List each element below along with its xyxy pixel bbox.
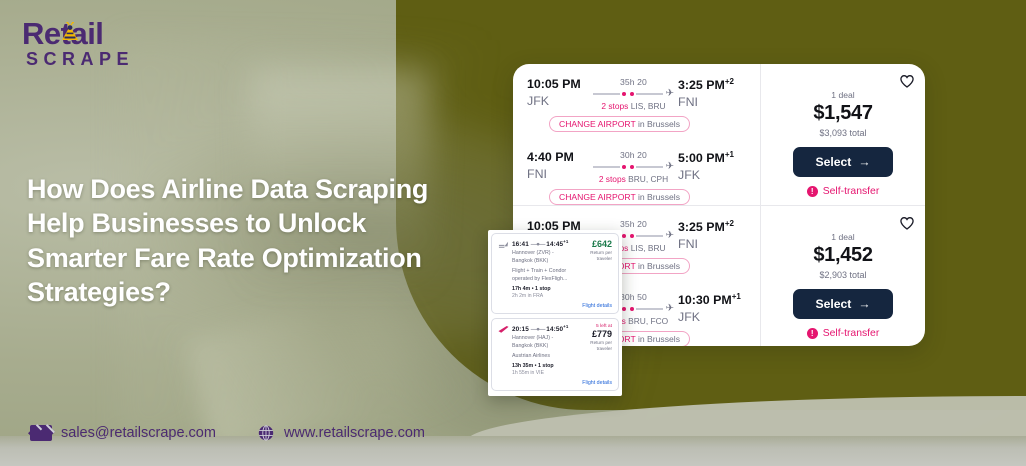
depart-airport: JFK	[527, 94, 589, 108]
globe-icon	[257, 424, 275, 442]
arrive-airport: FNI	[678, 95, 750, 109]
overlay-price-note: Return per traveler	[575, 340, 612, 353]
stop-dot	[622, 307, 626, 311]
arrive-airport: FNI	[678, 237, 750, 251]
leg-duration: 35h 20	[593, 77, 674, 87]
airplane-icon: ✈	[666, 162, 674, 172]
arrive-time: 3:25 PM+2	[678, 219, 750, 234]
itinerary-column: 10:05 PM JFK 35h 20 ✈ 2 stops LIS, BRU	[513, 64, 760, 205]
flight-comparison-overlay: 16:41 —●— 14:45+1 Hannover (ZVR) - Bangk…	[488, 230, 622, 396]
change-airport-badge: CHANGE AIRPORT in Brussels	[549, 189, 690, 205]
stop-dot	[630, 234, 634, 238]
condor-logo-icon	[498, 239, 509, 250]
arrow-right-icon: →	[858, 297, 870, 311]
overlay-layover: 2h 2m in FRA	[512, 293, 575, 299]
overlay-route: Hannover (ZVR) - Bangkok (BKK)	[512, 250, 575, 266]
contact-email[interactable]: sales@retailscrape.com	[61, 425, 216, 441]
arrive-time: 10:30 PM+1	[678, 292, 750, 307]
overlay-flight-details-link[interactable]: Flight details	[498, 380, 612, 386]
overlay-operator: Austrian Airlines	[512, 353, 575, 361]
depart-time: 10:05 PM	[527, 77, 589, 91]
promotional-banner: Retail SCRAPE How Does Airline Data Scra…	[0, 0, 1026, 466]
deal-count: 1 deal	[831, 232, 854, 242]
retail-scrape-logo[interactable]: Retail SCRAPE	[18, 14, 198, 70]
leg-stops: 2 stops LIS, BRU	[593, 101, 674, 111]
deal-count: 1 deal	[831, 90, 854, 100]
price-column: 1 deal $1,547 $3,093 total Select → ! Se…	[760, 64, 925, 205]
austrian-logo-icon	[498, 324, 509, 335]
select-button[interactable]: Select →	[793, 147, 892, 177]
airplane-icon: ✈	[666, 89, 674, 99]
warning-icon: !	[807, 328, 818, 339]
overlay-price-note: Return per traveler	[575, 250, 612, 263]
overlay-flight-item[interactable]: 16:41 —●— 14:45+1 Hannover (ZVR) - Bangk…	[491, 233, 619, 314]
banner-headline: How Does Airline Data Scraping Help Busi…	[27, 172, 467, 309]
flight-leg-return: 4:40 PM FNI 30h 20 ✈ 2 stops BRU, CPH	[527, 150, 750, 206]
overlay-times: 16:41 —●— 14:45+1	[512, 239, 575, 248]
warning-icon: !	[807, 186, 818, 197]
heart-icon[interactable]	[899, 215, 915, 231]
self-transfer-label: Self-transfer	[823, 328, 880, 339]
airplane-icon: ✈	[666, 231, 674, 241]
select-button[interactable]: Select →	[793, 289, 892, 319]
airplane-icon: ✈	[666, 304, 674, 314]
arrive-airport: JFK	[678, 310, 750, 324]
price-amount: $1,547	[813, 102, 872, 125]
stop-dot	[630, 307, 634, 311]
flight-result-row[interactable]: 10:05 PM JFK 35h 20 ✈ 2 stops LIS, BRU	[513, 64, 925, 205]
overlay-flight-details-link[interactable]: Flight details	[498, 303, 612, 309]
overlay-duration: 13h 35m • 1 stop	[512, 363, 575, 369]
arrive-airport: JFK	[678, 168, 750, 182]
overlay-operator: Flight + Train + Condor operated by Flex…	[512, 268, 575, 284]
flight-leg-outbound: 10:05 PM JFK 35h 20 ✈ 2 stops LIS, BRU	[527, 77, 750, 133]
envelope-icon	[30, 425, 52, 441]
self-transfer-label: Self-transfer	[823, 186, 880, 197]
self-transfer-badge: ! Self-transfer	[807, 186, 880, 197]
arrive-time: 3:25 PM+2	[678, 77, 750, 92]
heart-icon[interactable]	[899, 73, 915, 89]
depart-airport: FNI	[527, 167, 589, 181]
stop-dot	[630, 165, 634, 169]
leg-duration: 35h 20	[593, 219, 674, 229]
route-arrow-icon: —●—	[531, 326, 545, 333]
overlay-duration: 17h 4m • 1 stop	[512, 286, 575, 292]
logo-wordmark-secondary: SCRAPE	[26, 49, 134, 70]
arrow-right-icon: →	[858, 155, 870, 169]
stop-dot	[622, 165, 626, 169]
leg-duration: 30h 20	[593, 150, 674, 160]
contact-bar: sales@retailscrape.com www.retailscrape.…	[30, 424, 425, 442]
stop-dot	[622, 92, 626, 96]
select-button-label: Select	[815, 155, 851, 169]
overlay-layover: 1h 55m in VIE	[512, 370, 575, 376]
stop-dot	[622, 234, 626, 238]
leg-middle: 35h 20 ✈ 2 stops LIS, BRU	[589, 77, 678, 111]
price-total: $2,903 total	[819, 270, 866, 280]
overlay-price: £642	[575, 239, 612, 249]
overlay-flight-item[interactable]: 20:15 —●— 14:50+1 Hannover (HAJ) - Bangk…	[491, 318, 619, 391]
leg-line: ✈	[593, 89, 674, 99]
self-transfer-badge: ! Self-transfer	[807, 328, 880, 339]
change-airport-badge: CHANGE AIRPORT in Brussels	[549, 116, 690, 132]
arrive-time: 5:00 PM+1	[678, 150, 750, 165]
overlay-times: 20:15 —●— 14:50+1	[512, 324, 575, 333]
overlay-route: Hannover (HAJ) - Bangkok (BKK)	[512, 335, 575, 351]
stop-dot	[630, 92, 634, 96]
depart-time: 4:40 PM	[527, 150, 589, 164]
select-button-label: Select	[815, 297, 851, 311]
price-column: 1 deal $1,452 $2,903 total Select → ! Se…	[760, 206, 925, 346]
price-total: $3,093 total	[819, 128, 866, 138]
overlay-price: £779	[575, 329, 612, 339]
price-amount: $1,452	[813, 244, 872, 267]
contact-website[interactable]: www.retailscrape.com	[284, 425, 425, 441]
route-arrow-icon: —●—	[531, 241, 545, 248]
leg-line: ✈	[593, 162, 674, 172]
leg-stops: 2 stops BRU, CPH	[593, 174, 674, 184]
bee-icon	[58, 22, 82, 48]
leg-middle: 30h 20 ✈ 2 stops BRU, CPH	[589, 150, 678, 184]
